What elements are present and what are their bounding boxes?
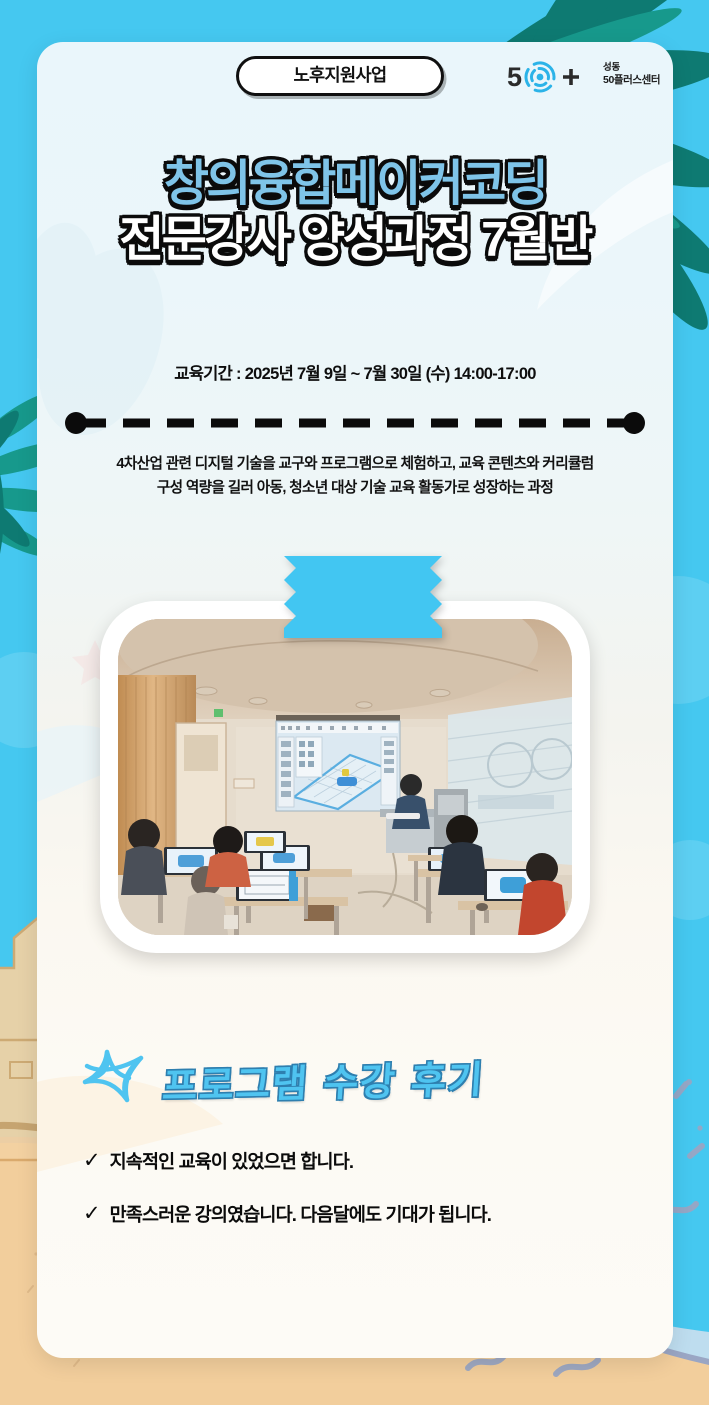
program-photo-section — [99, 556, 611, 956]
check-icon: ✓ — [83, 1150, 101, 1172]
review-list: ✓ 지속적인 교육이 있었으면 합니다. ✓ 만족스러운 강의였습니다. 다음달… — [83, 1150, 643, 1256]
list-item: ✓ 지속적인 교육이 있었으면 합니다. — [83, 1150, 643, 1173]
hand-drawn-star-icon — [77, 1048, 149, 1114]
photo-frame — [100, 601, 590, 953]
organization-name: 성동 50플러스센터 — [603, 62, 660, 86]
education-period: 교육기간 : 2025년 7월 9일 ~ 7월 30일 (수) 14:00-17… — [37, 360, 673, 384]
check-icon: ✓ — [83, 1203, 101, 1225]
fifty-plus-logo-mark: 5 — [507, 60, 599, 94]
ribbon-shape — [284, 556, 442, 638]
description-line-1: 4차산업 관련 디지털 기술을 교구와 프로그램으로 체험하고, 교육 콘텐츠와… — [55, 453, 655, 477]
poster-card: 노후지원사업 5 성동 50플러스센터 창의융합메이커코딩 — [37, 42, 673, 1358]
dashed-divider-svg — [65, 412, 645, 434]
classroom-photo — [118, 619, 572, 935]
photo-ribbon-banner — [284, 556, 442, 638]
organization-center: 50플러스센터 — [603, 74, 660, 87]
review-text: 지속적인 교육이 있었으면 합니다. — [110, 1150, 354, 1173]
program-category-label: 노후지원사업 — [294, 67, 387, 85]
list-item: ✓ 만족스러운 강의였습니다. 다음달에도 기대가 됩니다. — [83, 1203, 643, 1226]
review-text: 만족스러운 강의였습니다. 다음달에도 기대가 됩니다. — [110, 1203, 491, 1226]
description-line-2: 구성 역량을 길러 아동, 청소년 대상 기술 교육 활동가로 성장하는 과정 — [55, 477, 655, 501]
classroom-photo-illustration — [118, 619, 572, 935]
title-line-2: 전문강사 양성과정 7월반 — [37, 216, 673, 265]
poster-title: 창의융합메이커코딩 전문강사 양성과정 7월반 — [37, 160, 673, 264]
card-header: 노후지원사업 5 성동 50플러스센터 — [37, 42, 673, 114]
program-category-badge: 노후지원사업 — [236, 56, 444, 96]
review-section-title: 프로그램 수강 후기 — [161, 1049, 486, 1111]
organization-region: 성동 — [603, 62, 660, 74]
svg-text:5: 5 — [507, 62, 522, 92]
title-line-1: 창의융합메이커코딩 — [37, 160, 673, 209]
dashed-divider — [65, 412, 645, 434]
review-section-header: 프로그램 수강 후기 — [77, 1042, 637, 1126]
organization-logo: 5 성동 50플러스센터 — [507, 60, 662, 96]
program-description: 4차산업 관련 디지털 기술을 교구와 프로그램으로 체험하고, 교육 콘텐츠와… — [55, 453, 655, 500]
